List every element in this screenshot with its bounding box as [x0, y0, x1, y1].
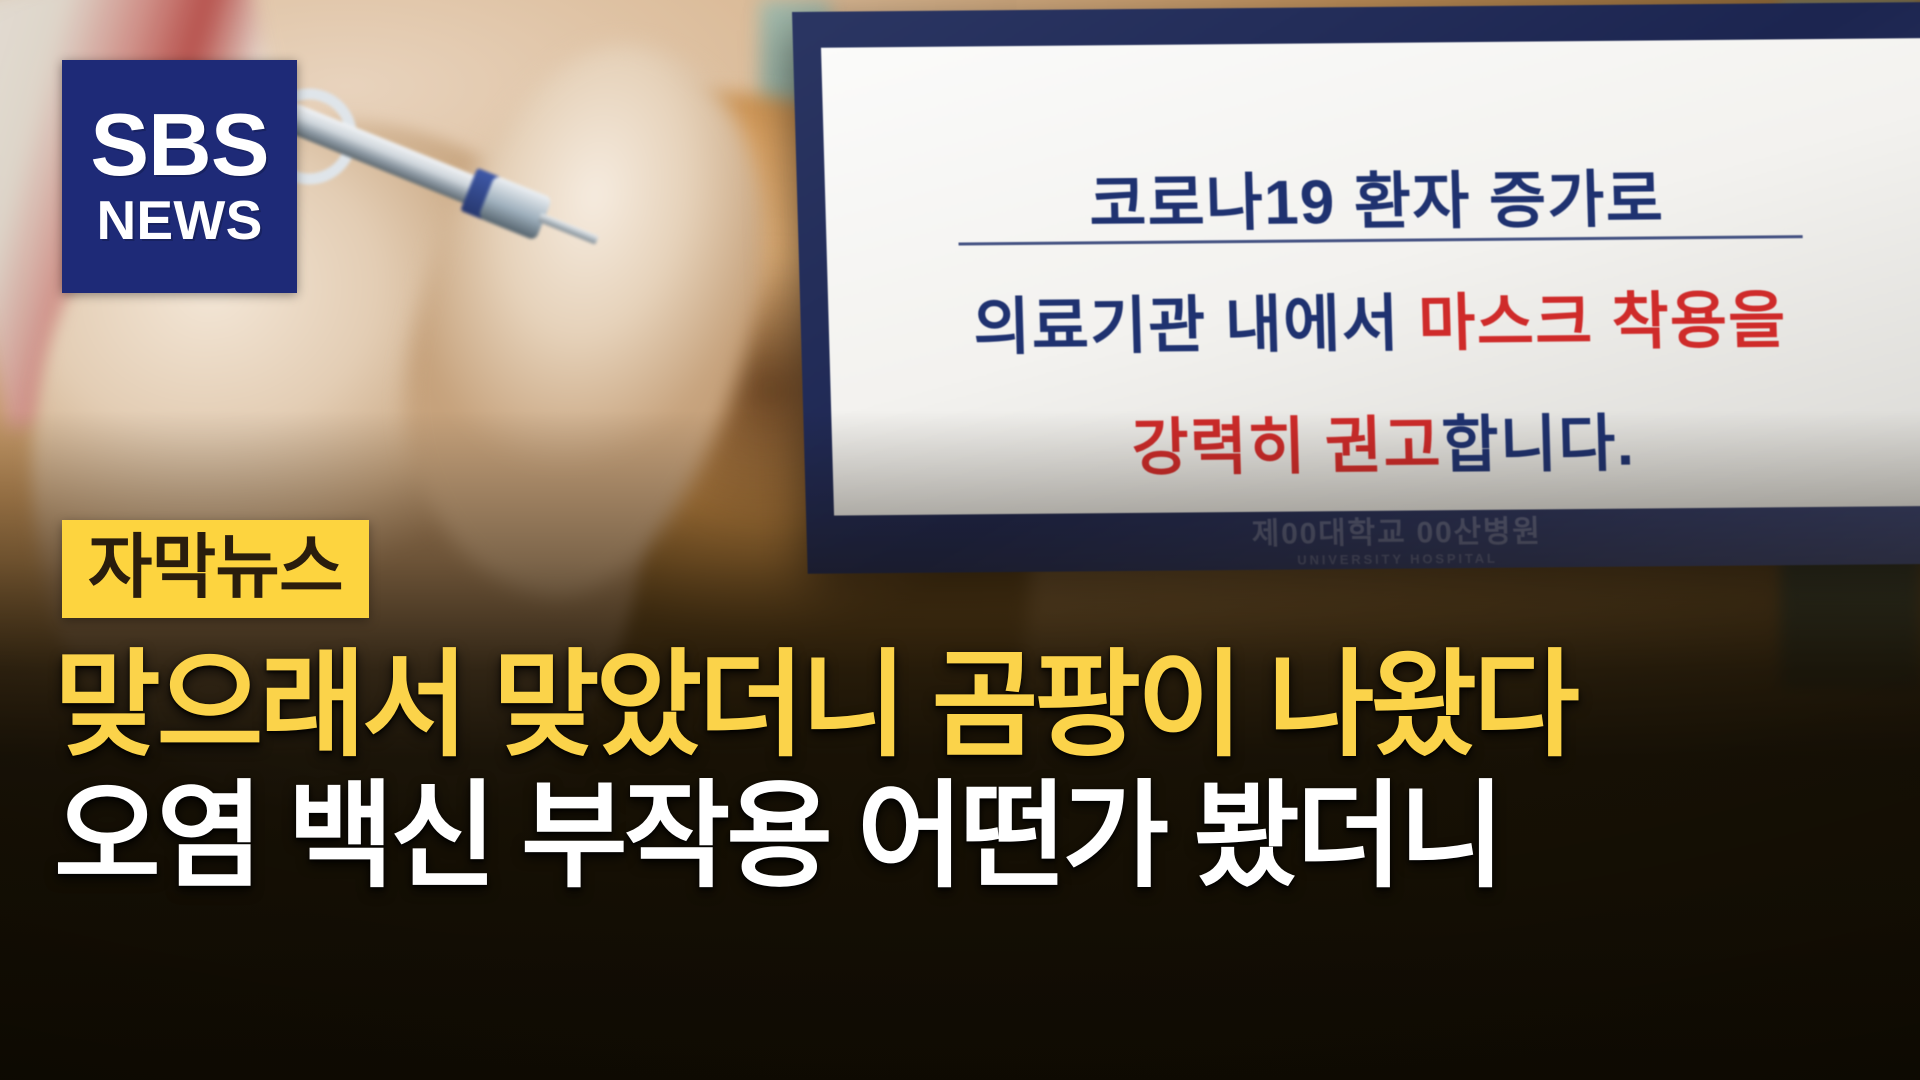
news-thumbnail-card: 코로나19 환자 증가로 의료기관 내에서 마스크 착용을 강력히 권고합니다.… — [0, 0, 1920, 1080]
headline-block: 맞으래서 맞았더니 곰팡이 나왔다 오염 백신 부작용 어떤가 봤더니 — [54, 640, 1890, 902]
logo-news-text: NEWS — [96, 193, 262, 248]
sbs-news-logo[interactable]: SBS NEWS — [62, 60, 297, 293]
category-badge[interactable]: 자막뉴스 — [62, 520, 369, 618]
logo-sbs-text: SBS — [90, 105, 268, 186]
headline-line-2: 오염 백신 부작용 어떤가 봤더니 — [54, 771, 1890, 902]
headline-line-1: 맞으래서 맞았더니 곰팡이 나왔다 — [54, 640, 1890, 771]
